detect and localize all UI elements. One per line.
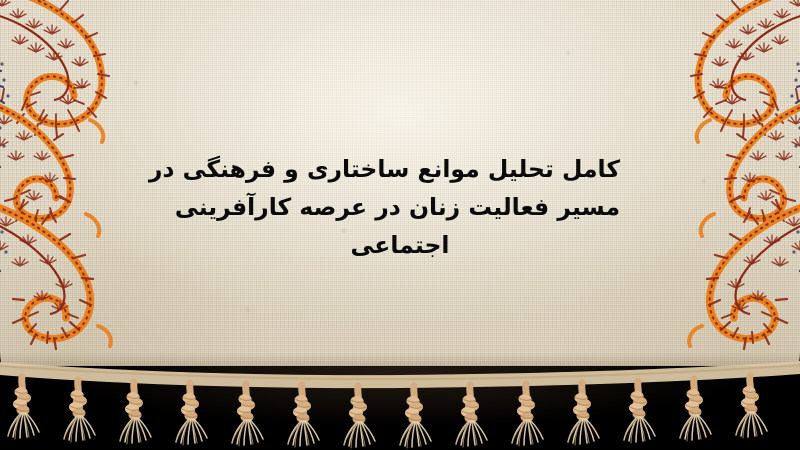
title-line-3: اجتماعی bbox=[180, 226, 620, 264]
page-title: کامل تحلیل موانع ساختاری و فرهنگی در مسی… bbox=[180, 150, 620, 264]
title-line-1: کامل تحلیل موانع ساختاری و فرهنگی در bbox=[180, 150, 620, 188]
title-line-2: مسیر فعالیت زنان در عرصه کارآفرینی bbox=[180, 188, 620, 226]
dark-ground-background bbox=[0, 366, 800, 450]
title-card-canvas: کامل تحلیل موانع ساختاری و فرهنگی در مسی… bbox=[0, 0, 800, 450]
